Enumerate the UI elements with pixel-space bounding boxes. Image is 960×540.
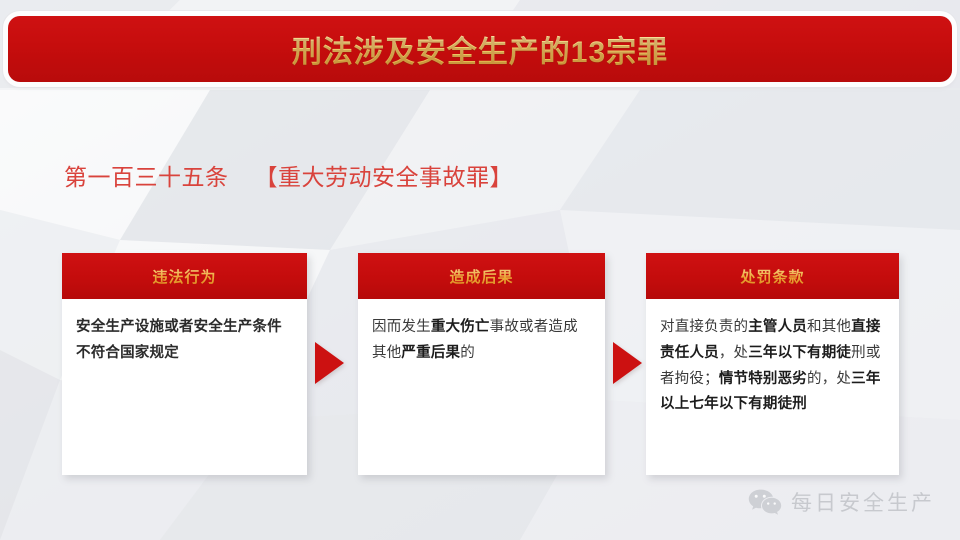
brand-name: 每日安全生产	[791, 487, 935, 517]
card-penalty: 处罚条款 对直接负责的主管人员和其他直接责任人员，处三年以下有期徒刑或者拘役；情…	[646, 253, 899, 475]
body-text: 因而发生	[372, 319, 431, 335]
card-penalty-body: 对直接负责的主管人员和其他直接责任人员，处三年以下有期徒刑或者拘役；情节特别恶劣…	[646, 299, 899, 428]
slide-title-banner: 刑法涉及安全生产的13宗罪	[8, 16, 952, 82]
crime-name: 【重大劳动安全事故罪】	[255, 164, 514, 190]
emphasis-text: 主管人员	[748, 319, 807, 335]
card-violation-body: 安全生产设施或者安全生产条件不符合国家规定	[62, 299, 307, 377]
body-text: ，处	[719, 345, 748, 361]
emphasis-text: 重大伤亡	[431, 319, 490, 335]
card-consequence-header-label: 造成后果	[449, 266, 513, 287]
article-subtitle: 第一百三十五条【重大劳动安全事故罪】	[64, 158, 513, 192]
emphasis-text: 严重后果	[401, 345, 460, 361]
card-violation-text: 安全生产设施或者安全生产条件不符合国家规定	[76, 319, 282, 361]
card-penalty-text: 对直接负责的主管人员和其他直接责任人员，处三年以下有期徒刑或者拘役；情节特别恶劣…	[660, 319, 881, 412]
card-violation-header: 违法行为	[62, 253, 307, 299]
article-number: 第一百三十五条	[64, 164, 229, 190]
card-penalty-header: 处罚条款	[646, 253, 899, 299]
wechat-icon	[748, 489, 782, 516]
card-penalty-header-label: 处罚条款	[740, 266, 804, 287]
emphasis-text: 情节特别恶劣	[719, 371, 807, 387]
card-consequence-text: 因而发生重大伤亡事故或者造成其他严重后果的	[372, 319, 578, 361]
card-violation-header-label: 违法行为	[152, 266, 216, 287]
card-consequence-body: 因而发生重大伤亡事故或者造成其他严重后果的	[358, 299, 605, 377]
card-row: 违法行为 安全生产设施或者安全生产条件不符合国家规定 造成后果 因而发生重大伤亡…	[0, 253, 960, 483]
page-title: 刑法涉及安全生产的13宗罪	[292, 27, 668, 71]
arrow-card1-to-card2-icon	[315, 342, 344, 384]
card-consequence: 造成后果 因而发生重大伤亡事故或者造成其他严重后果的	[358, 253, 605, 475]
body-text: 和其他	[807, 319, 851, 335]
body-text: 的	[460, 345, 475, 361]
body-text: 的，处	[807, 371, 851, 387]
card-consequence-header: 造成后果	[358, 253, 605, 299]
footer-watermark: 每日安全生产	[748, 487, 935, 517]
card-violation: 违法行为 安全生产设施或者安全生产条件不符合国家规定	[62, 253, 307, 475]
emphasis-text: 三年以下有期徒	[748, 345, 851, 361]
slide-canvas: 刑法涉及安全生产的13宗罪 第一百三十五条【重大劳动安全事故罪】 违法行为 安全…	[0, 0, 960, 540]
body-text: 对直接负责的	[660, 319, 748, 335]
arrow-card2-to-card3-icon	[613, 342, 642, 384]
